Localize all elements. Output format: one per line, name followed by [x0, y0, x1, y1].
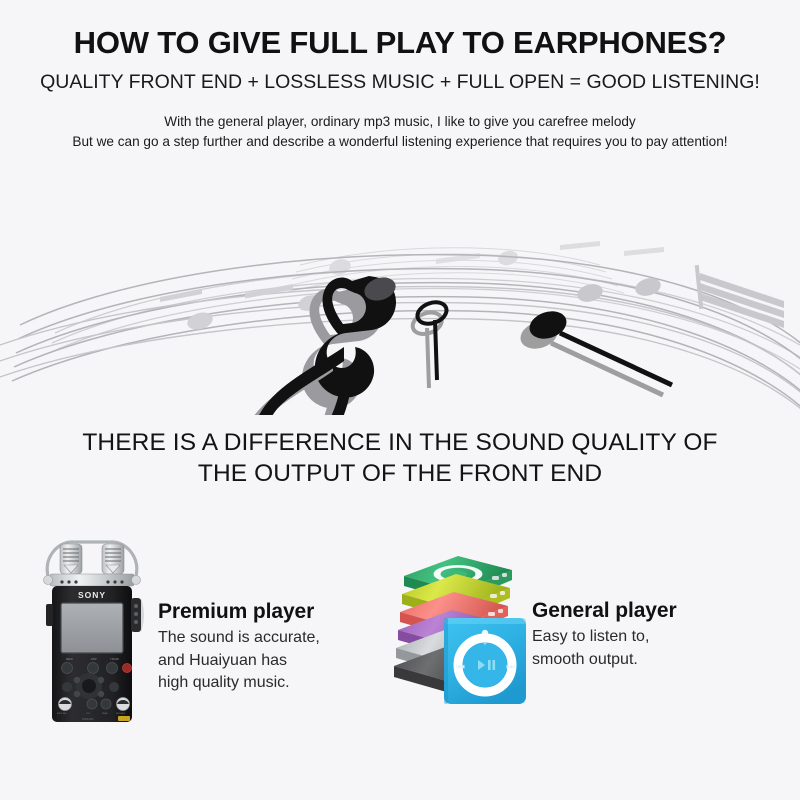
right-microphone: [102, 544, 124, 574]
premium-desc-line-1: The sound is accurate,: [158, 627, 320, 650]
left-microphone: [60, 544, 82, 574]
lcd-screen: [61, 603, 123, 653]
music-staff-illustration: [0, 225, 800, 415]
general-desc-line-1: Easy to listen to,: [532, 626, 677, 649]
left-side-control: [46, 604, 53, 626]
badge: [118, 716, 130, 721]
ipod-shuffle-stack-image: |◀◀ ▶▶| + –: [392, 550, 527, 722]
ipod-blue-front: |◀◀ ▶▶| + –: [444, 618, 526, 704]
volume-up-icon: +: [483, 642, 487, 648]
svg-text:T-MARK: T-MARK: [110, 658, 119, 661]
section-headline: THERE IS A DIFFERENCE IN THE SOUND QUALI…: [0, 428, 800, 489]
premium-desc-line-2: and Huaiyuan has: [158, 650, 320, 673]
half-note: [410, 298, 450, 388]
sony-logo: SONY: [78, 590, 106, 600]
svg-text:PHONES: PHONES: [116, 713, 126, 715]
treble-clef-icon: [242, 274, 398, 415]
premium-player-title: Premium player: [158, 600, 320, 624]
svg-text:MIC/LINE: MIC/LINE: [57, 713, 67, 715]
svg-text:PEAK: PEAK: [102, 712, 108, 715]
svg-text:VOL: VOL: [86, 713, 91, 715]
intro-line-1: With the general player, ordinary mp3 mu…: [0, 112, 800, 132]
intro-paragraph: With the general player, ordinary mp3 mu…: [0, 112, 800, 151]
svg-text:MENU: MENU: [66, 658, 73, 661]
general-player-title: General player: [532, 599, 677, 623]
previous-icon: |◀◀: [456, 664, 465, 670]
page-header: HOW TO GIVE FULL PLAY TO EARPHONES? QUAL…: [0, 0, 800, 151]
lower-staff-lines: [0, 287, 800, 415]
right-side-control: [131, 598, 144, 632]
page-tagline: QUALITY FRONT END + LOSSLESS MUSIC + FUL…: [0, 71, 800, 94]
microphone-assembly: [44, 542, 141, 586]
general-desc-line-2: smooth output.: [532, 649, 677, 672]
volume-down-icon: –: [483, 686, 487, 693]
headline-line-1: THERE IS A DIFFERENCE IN THE SOUND QUALI…: [0, 428, 800, 459]
headline-line-2: THE OUTPUT OF THE FRONT END: [0, 459, 800, 490]
page-title: HOW TO GIVE FULL PLAY TO EARPHONES?: [0, 25, 800, 61]
next-icon: ▶▶|: [507, 664, 516, 670]
premium-player-text: Premium player The sound is accurate, an…: [158, 600, 320, 695]
svg-text:DISP: DISP: [91, 658, 97, 661]
general-player-text: General player Easy to listen to, smooth…: [532, 599, 677, 671]
sony-recorder-image: SONY MENU DISP T-MARK: [36, 532, 148, 727]
premium-desc-line-3: high quality music.: [158, 672, 320, 695]
svg-text:PCM-D50: PCM-D50: [82, 717, 94, 721]
intro-line-2: But we can go a step further and describ…: [0, 132, 800, 152]
right-faint-notes: [560, 241, 664, 256]
record-button: [123, 664, 132, 673]
comparison-section: SONY MENU DISP T-MARK: [0, 520, 800, 750]
